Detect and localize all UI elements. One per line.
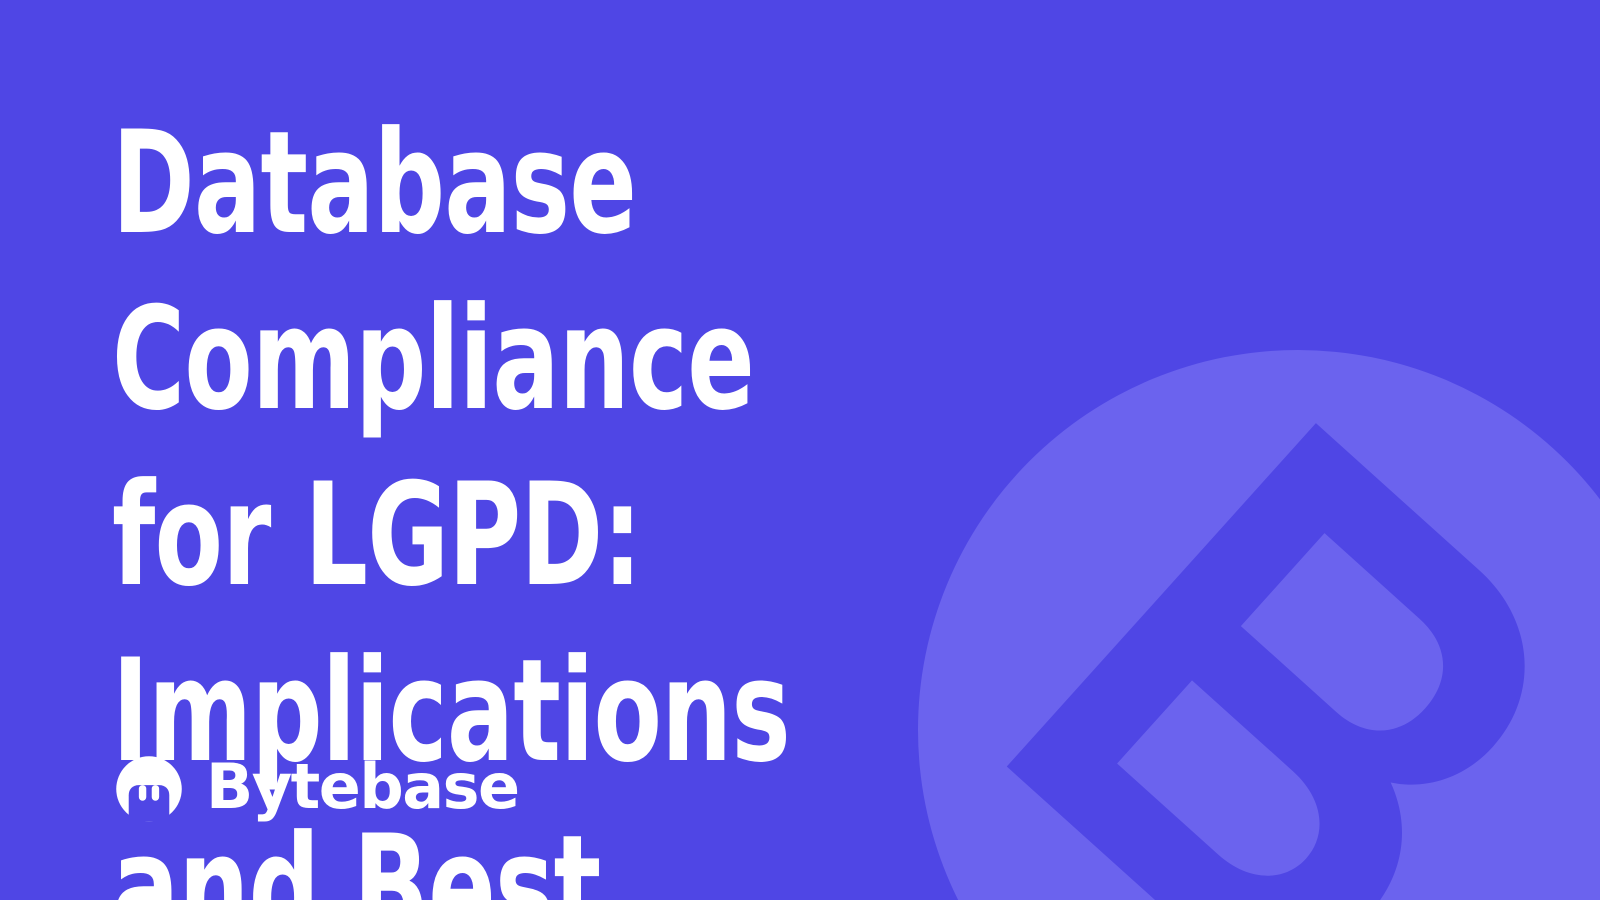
- brand-name: Bytebase: [206, 756, 519, 822]
- social-share-card: Database Compliance for LGPD: Implicatio…: [0, 0, 1600, 900]
- brand-lockup: Bytebase: [110, 750, 519, 828]
- bytebase-logo-icon: [110, 750, 188, 828]
